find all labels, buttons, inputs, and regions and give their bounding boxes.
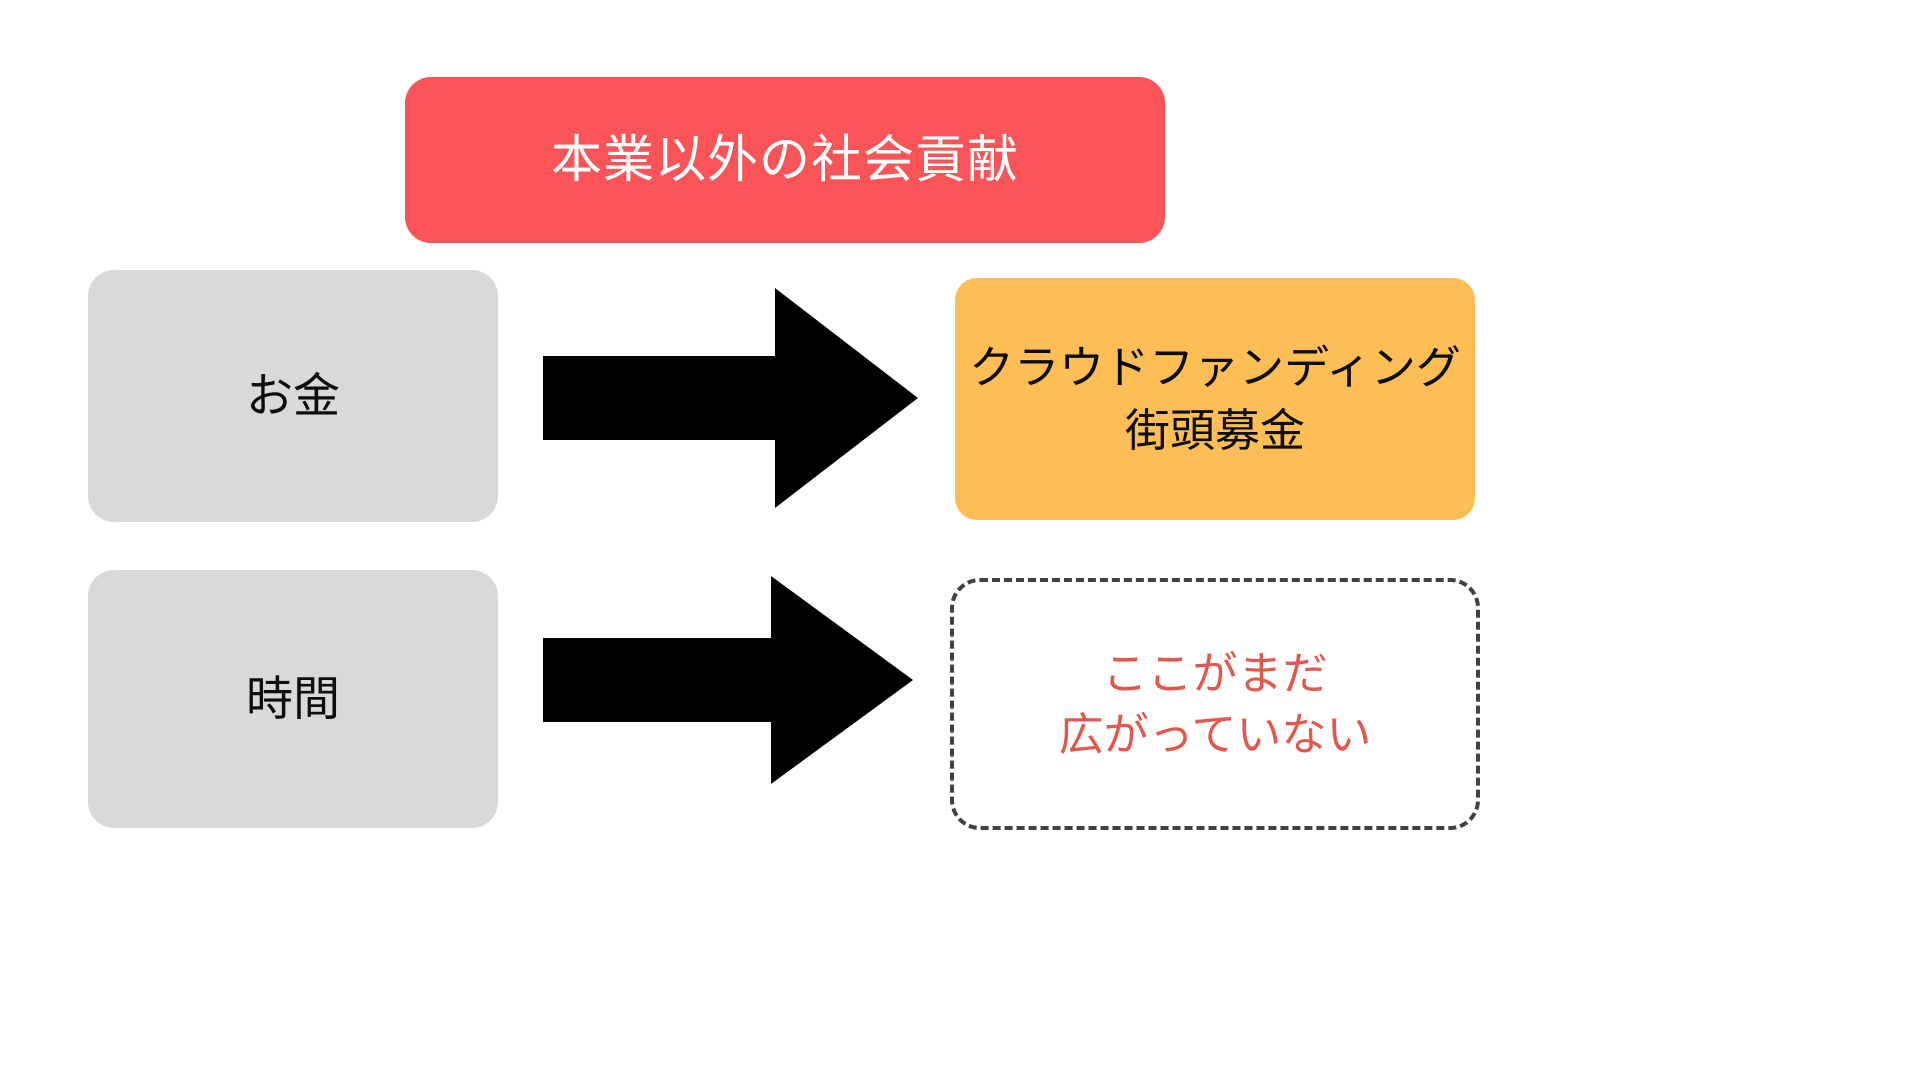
source-node-time-label: 時間	[246, 668, 340, 730]
target-node-crowdfunding: クラウドファンディング 街頭募金	[955, 278, 1475, 520]
source-node-money-label: お金	[246, 365, 340, 427]
header-banner-label: 本業以外の社会貢献	[551, 126, 1019, 193]
target-node-gap-label-line2: 広がっていない	[1059, 705, 1372, 764]
target-node-gap-label-line1: ここがまだ	[1102, 644, 1327, 703]
right-arrow-icon	[543, 288, 918, 508]
target-node-gap: ここがまだ 広がっていない	[950, 578, 1480, 830]
target-node-crowdfunding-label-line2: 街頭募金	[1125, 401, 1305, 460]
right-arrow-icon	[543, 576, 913, 784]
header-banner: 本業以外の社会貢献	[405, 77, 1165, 243]
source-node-time: 時間	[88, 570, 498, 828]
diagram-canvas: 本業以外の社会貢献 お金 クラウドファンディング 街頭募金 時間 ここがまだ 広…	[0, 0, 1920, 1080]
source-node-money: お金	[88, 270, 498, 522]
target-node-crowdfunding-label-line1: クラウドファンディング	[969, 338, 1461, 397]
